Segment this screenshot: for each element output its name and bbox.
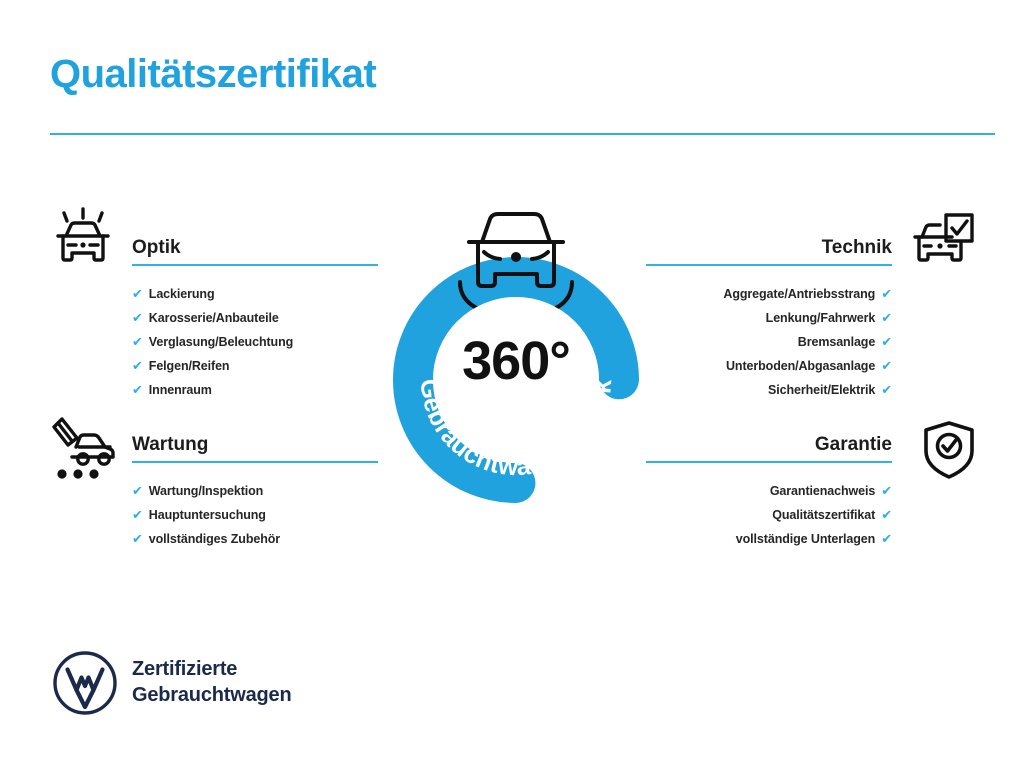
list-item-label: vollständiges Zubehör [149,532,280,546]
section-optik: Optik ✔Lackierung ✔Karosserie/Anbauteile… [132,238,392,402]
section-technik: Technik Aggregate/Antriebsstrang✔ Lenkun… [632,238,892,402]
checklist-garantie: Garantienachweis✔ Qualitätszertifikat✔ v… [632,479,892,551]
list-item-label: vollständige Unterlagen [736,532,875,546]
list-item-label: Felgen/Reifen [149,359,230,373]
checklist-technik: Aggregate/Antriebsstrang✔ Lenkung/Fahrwe… [632,282,892,402]
list-item: ✔Verglasung/Beleuchtung [132,330,392,354]
list-item-label: Aggregate/Antriebsstrang [723,287,875,301]
vw-lockup-line1: Zertifizierte [132,657,291,683]
check-icon: ✔ [132,282,143,305]
check-icon: ✔ [132,354,143,377]
list-item: ✔vollständiges Zubehör [132,527,392,551]
list-item: Garantienachweis✔ [632,479,892,503]
check-icon: ✔ [881,282,892,305]
list-item: Sicherheit/Elektrik✔ [632,378,892,402]
section-heading-wartung: Wartung [132,435,392,455]
badge-value: 360° [374,334,658,388]
list-item: Aggregate/Antriebsstrang✔ [632,282,892,306]
list-item-label: Lenkung/Fahrwerk [766,311,876,325]
list-item: ✔Innenraum [132,378,392,402]
list-item: ✔Hauptuntersuchung [132,503,392,527]
check-icon: ✔ [881,330,892,353]
list-item: ✔Karosserie/Anbauteile [132,306,392,330]
list-item-label: Lackierung [149,287,215,301]
check-icon: ✔ [132,306,143,329]
section-wartung: Wartung ✔Wartung/Inspektion ✔Hauptunters… [132,435,392,551]
check-icon: ✔ [881,378,892,401]
check-icon: ✔ [881,479,892,502]
checklist-wartung: ✔Wartung/Inspektion ✔Hauptuntersuchung ✔… [132,479,392,551]
section-divider-garantie [646,461,892,463]
list-item-label: Qualitätszertifikat [772,508,875,522]
check-icon: ✔ [881,354,892,377]
check-icon: ✔ [132,330,143,353]
checklist-optik: ✔Lackierung ✔Karosserie/Anbauteile ✔Verg… [132,282,392,402]
page-title: Qualitätszertifikat [50,52,376,96]
pencil-car-service-icon [46,413,120,487]
car-front-checkbox-icon [906,207,980,281]
check-icon: ✔ [132,503,143,526]
check-icon: ✔ [881,527,892,550]
list-item: vollständige Unterlagen✔ [632,527,892,551]
vw-certified-lockup: Zertifizierte Gebrauchtwagen [52,650,291,716]
section-divider-technik [646,264,892,266]
shield-check-icon [912,413,986,487]
list-item-label: Unterboden/Abgasanlage [726,359,875,373]
section-divider-optik [132,264,378,266]
list-item-label: Garantienachweis [770,484,875,498]
badge-360-gebrauchtwagen-check: Gebrauchtwagen-Check 360° [374,190,658,510]
check-icon: ✔ [132,479,143,502]
list-item: Lenkung/Fahrwerk✔ [632,306,892,330]
list-item-label: Innenraum [149,383,212,397]
list-item: ✔Lackierung [132,282,392,306]
car-front-shine-icon [46,203,120,277]
section-heading-garantie: Garantie [632,435,892,455]
section-garantie: Garantie Garantienachweis✔ Qualitätszert… [632,435,892,551]
certificate-page: Qualitätszertifikat [0,0,1024,768]
check-icon: ✔ [132,527,143,550]
list-item: Qualitätszertifikat✔ [632,503,892,527]
list-item: ✔Wartung/Inspektion [132,479,392,503]
header-divider [50,133,995,135]
list-item: ✔Felgen/Reifen [132,354,392,378]
list-item-label: Karosserie/Anbauteile [149,311,279,325]
vw-logo [52,650,118,716]
list-item: Bremsanlage✔ [632,330,892,354]
section-heading-optik: Optik [132,238,392,258]
list-item-label: Wartung/Inspektion [149,484,263,498]
check-icon: ✔ [881,306,892,329]
section-divider-wartung [132,461,378,463]
check-icon: ✔ [132,378,143,401]
vw-lockup-line2: Gebrauchtwagen [132,683,291,709]
list-item-label: Verglasung/Beleuchtung [149,335,293,349]
check-icon: ✔ [881,503,892,526]
list-item-label: Hauptuntersuchung [149,508,266,522]
list-item: Unterboden/Abgasanlage✔ [632,354,892,378]
vw-lockup-text: Zertifizierte Gebrauchtwagen [132,657,291,708]
list-item-label: Bremsanlage [798,335,875,349]
list-item-label: Sicherheit/Elektrik [768,383,875,397]
section-heading-technik: Technik [632,238,892,258]
